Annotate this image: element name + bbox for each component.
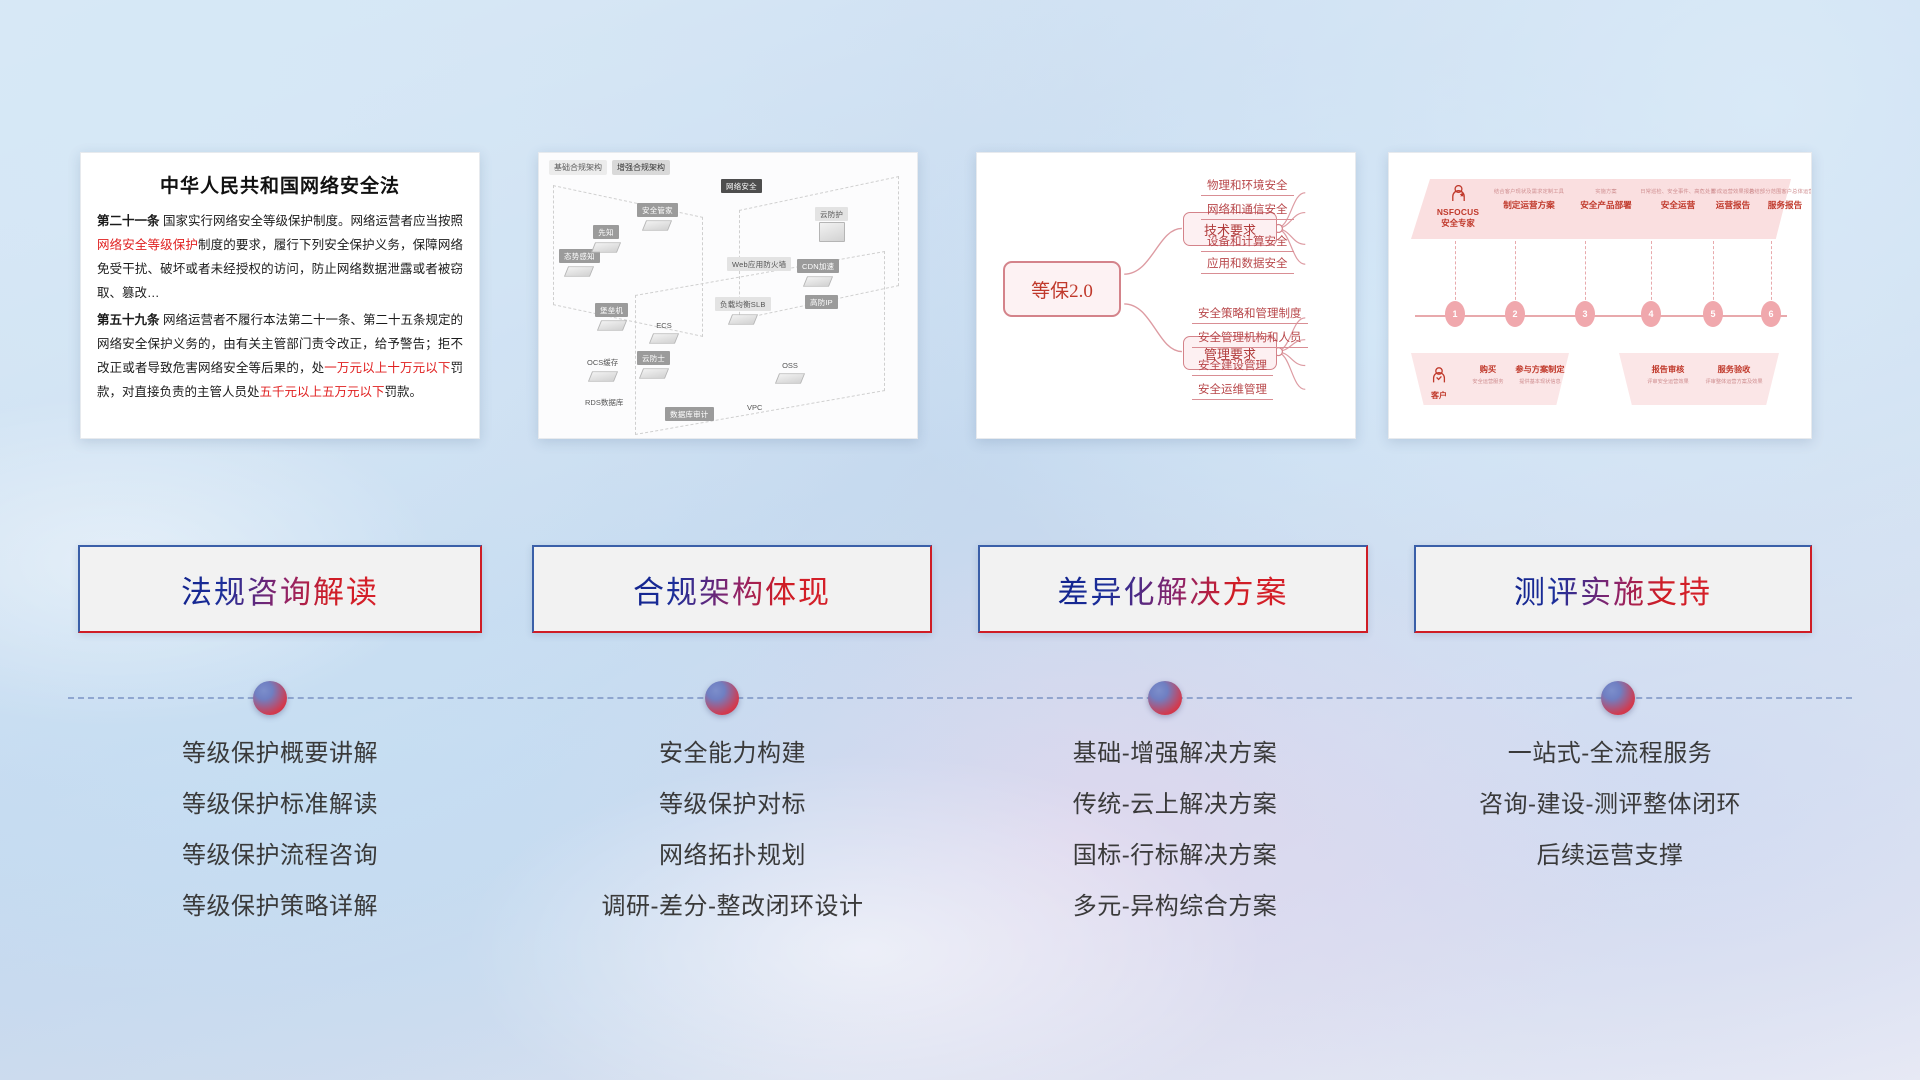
node-label: OCS缓存	[587, 357, 618, 368]
node-shape	[819, 222, 845, 242]
node-anti-ddos-ip: 高防IP	[805, 295, 838, 309]
card-nsfocus-timeline[interactable]: NSFOCUS 安全专家 结合客户现状及需求定制工具 制定运营方案 实施方案 安…	[1388, 152, 1812, 439]
section-title-row: 法规咨询解读 合规架构体现 差异化解决方案 测评实施支持	[0, 545, 1920, 635]
architecture-diagram: 基础合规架构 增强合规架构 态势感知 先知 安全管家 网络安全	[539, 153, 917, 438]
expert-step-2: 实施方案 安全产品部署	[1571, 187, 1641, 211]
node-shape	[649, 333, 679, 343]
timeline-rail	[68, 697, 1852, 699]
list-item: 后续运营支撑	[1410, 844, 1810, 868]
node-xianzhi: 先知	[593, 225, 619, 255]
list-item: 网络拓扑规划	[530, 844, 935, 868]
law-title: 中华人民共和国网络安全法	[97, 171, 463, 198]
card-mindmap-dengbao[interactable]: 等保2.0 技术要求 管理要求 物理和环境安全 网络和通信安全 设备和计算安全 …	[976, 152, 1356, 439]
customer-step-participate: 参与方案制定 提供基本现状信息	[1507, 363, 1573, 385]
node-oss: OSS	[777, 361, 803, 386]
stem-6	[1771, 241, 1772, 305]
stem-2	[1515, 241, 1516, 305]
section-title-box-1[interactable]: 法规咨询解读	[78, 545, 482, 633]
detail-list-2: 安全能力构建 等级保护对标 网络拓扑规划 调研-差分-整改闭环设计	[530, 742, 935, 946]
mindmap-leaf-physical: 物理和环境安全	[1201, 177, 1294, 196]
section-title-box-3[interactable]: 差异化解决方案	[978, 545, 1368, 633]
node-rds-database: RDS数据库	[585, 397, 623, 408]
list-item: 等级保护概要讲解	[80, 742, 480, 766]
node-ecs: ECS	[651, 321, 677, 346]
list-item: 等级保护标准解读	[80, 793, 480, 817]
timeline-bead-3[interactable]	[1148, 681, 1182, 715]
step-sub: 评审整体运营方案及效果	[1701, 378, 1767, 385]
nsfocus-brand: NSFOCUS 安全专家	[1427, 185, 1489, 229]
node-label: 高防IP	[805, 295, 838, 309]
list-item: 国标-行标解决方案	[975, 844, 1375, 868]
step-sub: 实施方案	[1571, 187, 1641, 195]
customer-label: 客户	[1431, 390, 1447, 401]
detail-list-3: 基础-增强解决方案 传统-云上解决方案 国标-行标解决方案 多元-异构综合方案	[975, 742, 1375, 946]
article-21-pre: 国家实行网络安全等级保护制度。网络运营者应当按照	[160, 214, 463, 228]
timeline-node-2: 2	[1505, 301, 1525, 327]
node-label: 先知	[593, 225, 618, 239]
node-shape	[642, 220, 672, 230]
list-item: 多元-异构综合方案	[975, 895, 1375, 919]
list-item: 等级保护对标	[530, 793, 935, 817]
timeline-node-1: 1	[1445, 301, 1465, 327]
node-label: ECS	[656, 321, 671, 330]
node-label: 数据库审计	[665, 407, 714, 421]
law-article-21: 第二十一条 国家实行网络安全等级保护制度。网络运营者应当按照网络安全等级保护制度…	[97, 209, 463, 305]
customer-actor: 客户	[1431, 367, 1447, 401]
node-network-security: 网络安全	[721, 179, 762, 193]
timeline-axis	[1415, 315, 1787, 317]
node-cloud-guard: 云防士	[637, 351, 670, 381]
node-label: RDS数据库	[585, 397, 623, 408]
article-59-fine-person: 五千元以上五万元以下	[260, 385, 385, 399]
list-item: 等级保护策略详解	[80, 895, 480, 919]
mindmap-leaf-application: 应用和数据安全	[1201, 255, 1294, 274]
list-item: 调研-差分-整改闭环设计	[530, 895, 935, 919]
customer-step-purchase: 购买 安全运营服务	[1465, 363, 1511, 385]
section-title-box-2[interactable]: 合规架构体现	[532, 545, 932, 633]
node-bastion-host: 堡垒机	[595, 303, 628, 333]
brand-name: NSFOCUS	[1427, 207, 1489, 217]
node-label: VPC	[747, 403, 762, 412]
section-title-box-4[interactable]: 测评实施支持	[1414, 545, 1812, 633]
node-db-audit: 数据库审计	[665, 407, 714, 421]
step-main: 服务报告	[1749, 199, 1812, 211]
node-label: 安全管家	[637, 203, 678, 217]
article-59-fine-company: 一万元以上十万元以下	[324, 361, 450, 375]
card-cybersecurity-law[interactable]: 中华人民共和国网络安全法 第二十一条 国家实行网络安全等级保护制度。网络运营者应…	[80, 152, 480, 439]
step-sub: 安全运营服务	[1465, 378, 1511, 385]
node-label: Web应用防火墙	[727, 257, 791, 271]
timeline-bead-4[interactable]	[1601, 681, 1635, 715]
step-sub: 提供基本现状信息	[1507, 378, 1573, 385]
mindmap-leaf-construction: 安全建设管理	[1192, 357, 1273, 376]
step-main: 报告审核	[1637, 363, 1699, 375]
node-shape	[588, 371, 618, 381]
step-main: 参与方案制定	[1507, 363, 1573, 375]
expert-person-icon	[1451, 185, 1466, 202]
expert-step-1: 结合客户现状及需求定制工具 制定运营方案	[1493, 187, 1565, 211]
node-cloud-protection: 云防护	[815, 207, 848, 242]
node-number: 5	[1710, 309, 1715, 319]
timeline-bead-2[interactable]	[705, 681, 739, 715]
service-timeline: NSFOCUS 安全专家 结合客户现状及需求定制工具 制定运营方案 实施方案 安…	[1389, 153, 1811, 438]
step-main: 制定运营方案	[1493, 199, 1565, 211]
tab-enhanced-architecture[interactable]: 增强合规架构	[612, 160, 670, 175]
timeline-node-3: 3	[1575, 301, 1595, 327]
step-sub: 结合客户现状及需求定制工具	[1493, 187, 1565, 195]
mindmap-leaf-network: 网络和通信安全	[1201, 201, 1294, 220]
node-shape	[775, 373, 805, 383]
node-security-butler: 安全管家	[637, 203, 678, 233]
node-shape	[803, 276, 833, 286]
list-item: 基础-增强解决方案	[975, 742, 1375, 766]
timeline-bead-1[interactable]	[253, 681, 287, 715]
node-number: 3	[1582, 309, 1587, 319]
node-ocs-cache: OCS缓存	[587, 357, 618, 384]
stem-4	[1651, 241, 1652, 305]
node-number: 1	[1452, 309, 1457, 319]
node-number: 2	[1512, 309, 1517, 319]
customer-step-acceptance: 服务验收 评审整体运营方案及效果	[1701, 363, 1767, 385]
brand-role: 安全专家	[1427, 217, 1489, 229]
node-cdn: CDN加速	[797, 259, 839, 289]
node-shape	[591, 242, 621, 252]
timeline-node-6: 6	[1761, 301, 1781, 327]
stem-3	[1585, 241, 1586, 305]
article-21-highlight: 网络安全等级保护	[97, 238, 198, 252]
list-item: 传统-云上解决方案	[975, 793, 1375, 817]
list-item: 安全能力构建	[530, 742, 935, 766]
timeline-node-4: 4	[1641, 301, 1661, 327]
step-sub: 评审安全运营效果	[1637, 378, 1699, 385]
mindmap-leaf-org: 安全管理机构和人员	[1192, 329, 1308, 348]
node-slb: 负载均衡SLB	[715, 297, 771, 327]
node-label: 云防护	[815, 207, 848, 221]
article-59-post: 罚款。	[385, 385, 423, 399]
node-shape	[728, 314, 758, 324]
law-article-59: 第五十九条 网络运营者不履行本法第二十一条、第二十五条规定的网络安全保护义务的，…	[97, 308, 463, 404]
mindmap-root: 等保2.0	[1003, 261, 1121, 317]
node-label: 云防士	[637, 351, 670, 365]
stem-5	[1713, 241, 1714, 305]
article-21-label: 第二十一条	[97, 214, 160, 228]
node-label: 堡垒机	[595, 303, 628, 317]
step-main: 安全产品部署	[1571, 199, 1641, 211]
list-item: 等级保护流程咨询	[80, 844, 480, 868]
node-label: CDN加速	[797, 259, 839, 273]
node-number: 4	[1648, 309, 1653, 319]
node-shape	[596, 320, 626, 330]
step-sub: 总结部分范围客户总体运营效果	[1749, 187, 1812, 195]
tab-basic-architecture[interactable]: 基础合规架构	[549, 160, 607, 175]
detail-list-4: 一站式-全流程服务 咨询-建设-测评整体闭环 后续运营支撑	[1410, 742, 1810, 895]
node-shape	[564, 266, 594, 276]
node-shape	[638, 368, 668, 378]
step-main: 购买	[1465, 363, 1511, 375]
timeline-node-5: 5	[1703, 301, 1723, 327]
section-title-text: 法规咨询解读	[181, 567, 379, 612]
customer-person-icon	[1432, 367, 1446, 383]
customer-step-report-review: 报告审核 评审安全运营效果	[1637, 363, 1699, 385]
mindmap-leaf-operations: 安全运维管理	[1192, 381, 1273, 400]
mindmap-leaf-policy: 安全策略和管理制度	[1192, 305, 1308, 324]
step-main: 服务验收	[1701, 363, 1767, 375]
section-title-text: 差异化解决方案	[1058, 567, 1289, 612]
list-item: 咨询-建设-测评整体闭环	[1410, 793, 1810, 817]
card-compliance-architecture[interactable]: 基础合规架构 增强合规架构 态势感知 先知 安全管家 网络安全	[538, 152, 918, 439]
node-label: 负载均衡SLB	[715, 297, 771, 311]
mindmap-leaf-device: 设备和计算安全	[1201, 233, 1294, 252]
node-label: OSS	[782, 361, 798, 370]
architecture-tabs[interactable]: 基础合规架构 增强合规架构	[549, 160, 670, 175]
section-title-text: 测评实施支持	[1514, 567, 1712, 612]
article-59-label: 第五十九条	[97, 313, 160, 327]
node-label: 网络安全	[721, 179, 762, 193]
mindmap: 等保2.0 技术要求 管理要求 物理和环境安全 网络和通信安全 设备和计算安全 …	[977, 153, 1355, 438]
stem-1	[1455, 241, 1456, 305]
node-vpc: VPC	[747, 403, 762, 412]
section-title-text: 合规架构体现	[633, 567, 831, 612]
preview-card-row: 中华人民共和国网络安全法 第二十一条 国家实行网络安全等级保护制度。网络运营者应…	[0, 152, 1920, 442]
detail-list-1: 等级保护概要讲解 等级保护标准解读 等级保护流程咨询 等级保护策略详解	[80, 742, 480, 946]
node-number: 6	[1768, 309, 1773, 319]
expert-step-5: 总结部分范围客户总体运营效果 服务报告	[1749, 187, 1812, 211]
list-item: 一站式-全流程服务	[1410, 742, 1810, 766]
node-waf: Web应用防火墙	[727, 257, 791, 271]
